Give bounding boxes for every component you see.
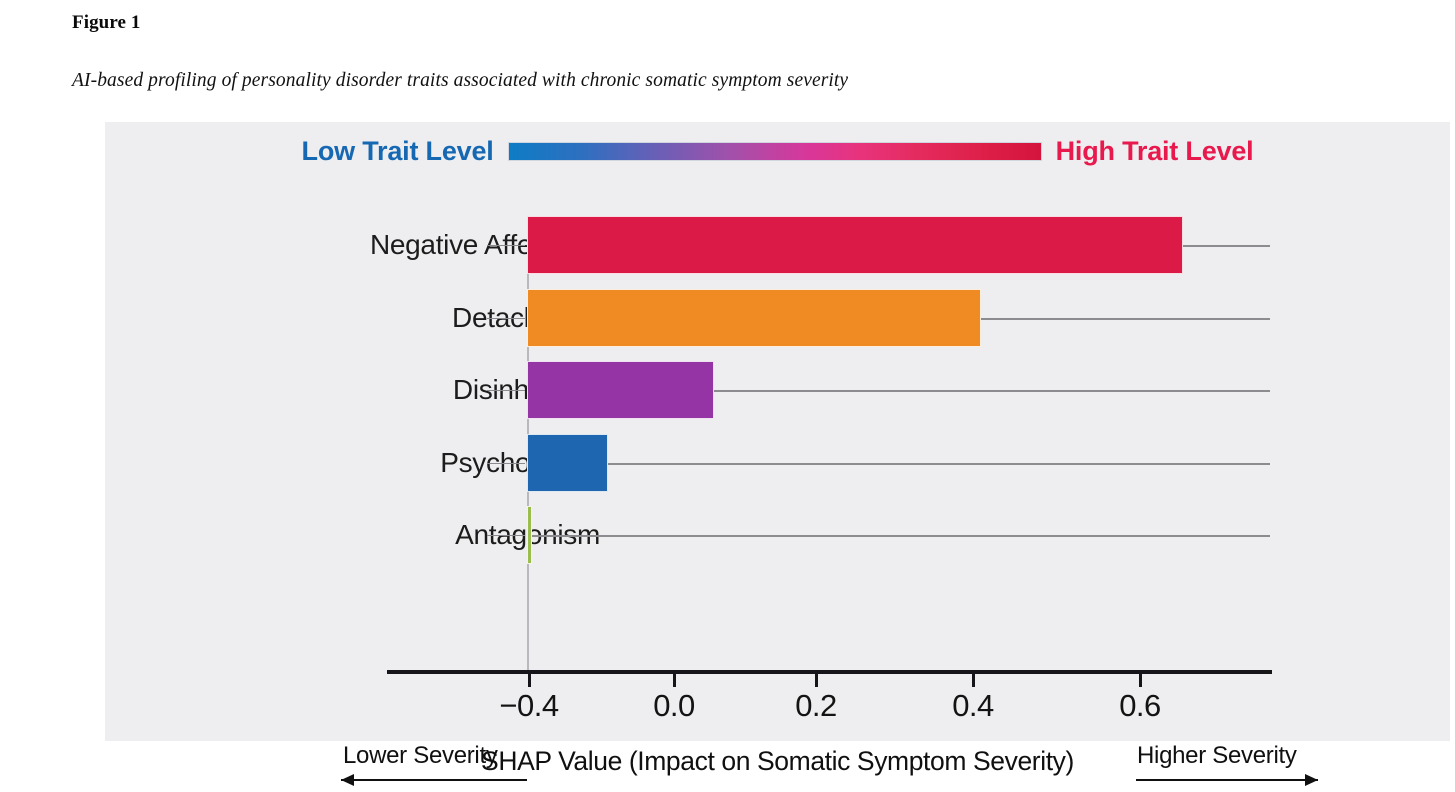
x-tick-mark xyxy=(972,674,975,687)
figure-number: Figure 1 xyxy=(72,12,1402,34)
legend-label-low: Low Trait Level xyxy=(302,136,494,167)
bar-disinhibition[interactable] xyxy=(527,361,714,419)
bar-row: Detachment xyxy=(105,289,1450,347)
figure-header: Figure 1 AI-based profiling of personali… xyxy=(72,12,1402,92)
x-tick-mark xyxy=(815,674,818,687)
bar-guide-line xyxy=(608,463,1270,465)
bar-row: Negative Affectivity xyxy=(105,216,1450,274)
x-axis-title: SHAP Value (Impact on Somatic Symptom Se… xyxy=(481,746,1074,777)
x-tick-label: −0.4 xyxy=(499,688,558,724)
bar-psychoticism[interactable] xyxy=(527,434,608,492)
x-tick-label: 0.2 xyxy=(795,688,837,724)
chart-panel: Low Trait Level High Trait Level Negativ… xyxy=(105,122,1450,741)
x-tick-label: 0.6 xyxy=(1119,688,1161,724)
bar-row: Antagonism xyxy=(105,506,1450,564)
x-tick-label: 0.4 xyxy=(952,688,994,724)
plot-area: Negative AffectivityDetachmentDisinhibit… xyxy=(105,180,1450,741)
bar-row: Psychoticism xyxy=(105,434,1450,492)
bar-guide-line xyxy=(714,390,1270,392)
x-tick-mark xyxy=(528,674,531,687)
trait-level-gradient-bar xyxy=(508,142,1042,161)
axis-caption-row: Lower Severity SHAP Value (Impact on Som… xyxy=(105,732,1450,792)
higher-severity-arrow-icon xyxy=(1136,774,1318,786)
bar-leader-line xyxy=(487,535,525,536)
bar-leader-line xyxy=(487,245,525,246)
bar-detachment[interactable] xyxy=(527,289,981,347)
bar-guide-line xyxy=(532,535,1270,537)
bar-leader-line xyxy=(487,463,525,464)
bar-row: Disinhibition xyxy=(105,361,1450,419)
bar-guide-line xyxy=(1183,245,1270,247)
bar-leader-line xyxy=(487,390,525,391)
trait-level-colorbar-legend: Low Trait Level High Trait Level xyxy=(105,122,1450,180)
x-tick-mark xyxy=(1139,674,1142,687)
bar-leader-line xyxy=(487,318,525,319)
higher-severity-label: Higher Severity xyxy=(1137,742,1297,770)
x-tick-label: 0.0 xyxy=(653,688,695,724)
lower-severity-label: Lower Severity xyxy=(343,742,498,770)
legend-label-high: High Trait Level xyxy=(1056,136,1254,167)
bar-guide-line xyxy=(981,318,1270,320)
figure-subtitle: AI-based profiling of personality disord… xyxy=(72,70,1402,92)
bar-antagonism[interactable] xyxy=(527,506,532,564)
bar-negative-affectivity[interactable] xyxy=(527,216,1183,274)
x-tick-mark xyxy=(673,674,676,687)
